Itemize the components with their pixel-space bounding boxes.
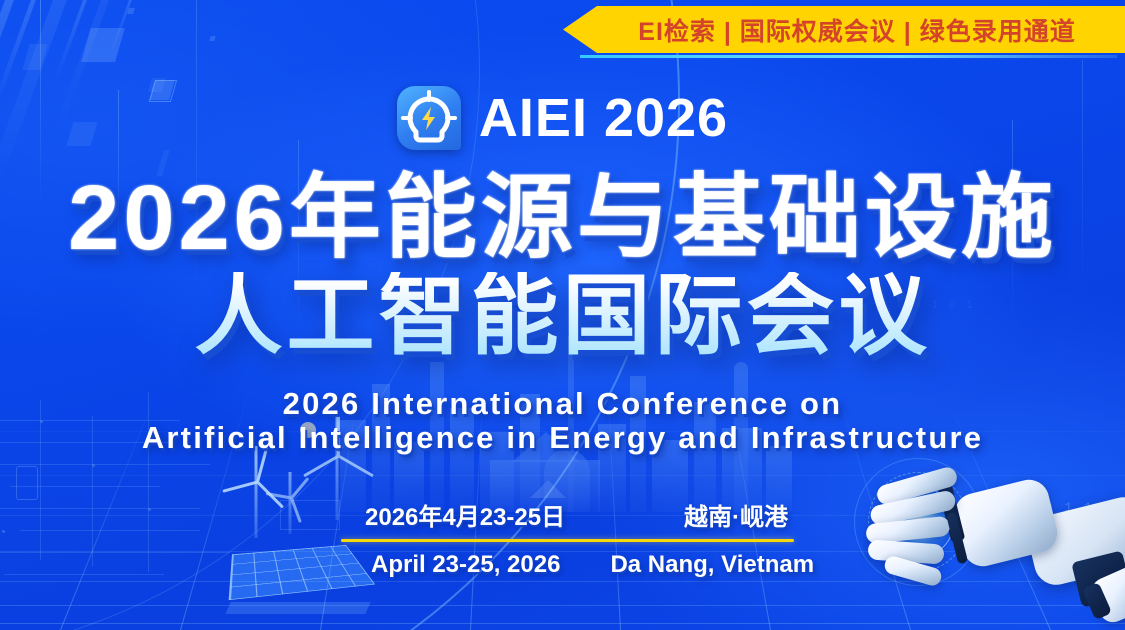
date-en: April 23-25, 2026 (341, 551, 580, 579)
energy-bolt-logo-icon (397, 86, 461, 150)
binary-code-decor: 0 1 0 0 1 1 0 1 (962, 545, 1109, 560)
conference-banner: 0 1 0 0 1 1 0 1 0 1 1 0 0 1 0 0 1 1 0 1 … (0, 0, 1125, 630)
brand-block: AIEI 2026 (0, 86, 1125, 150)
ribbon-underline-decor (580, 55, 1117, 58)
robot-hand-illustration (880, 458, 1125, 630)
square-fleck-decor (127, 8, 135, 14)
date-venue-row-cn: 2026年4月23-25日 越南·岘港 (341, 497, 794, 532)
title-cn-line2: 人工智能国际会议 (0, 272, 1125, 360)
binary-code-decor: 0 1 1 0 (1040, 568, 1109, 583)
wind-turbine-icon (268, 472, 312, 534)
hud-ring-glow-icon (848, 452, 988, 592)
binary-code-decor: 1 0 1 1 0 (1002, 522, 1090, 537)
date-cn: 2026年4月23-25日 (341, 497, 571, 532)
square-fleck-decor (209, 36, 215, 41)
title-en-line2: Artificial Intelligence in Energy and In… (0, 420, 1125, 456)
binary-code-decor: 0 1 0 0 1 1 0 (986, 500, 1113, 515)
square-fleck-decor (22, 44, 47, 70)
brand-acronym-year: AIEI 2026 (479, 91, 728, 145)
wind-turbine-icon (228, 446, 284, 538)
solar-panel-base-decor (225, 602, 370, 614)
title-en-line1: 2026 International Conference on (0, 386, 1125, 422)
date-venue-block: 2026年4月23-25日 越南·岘港 April 23-25, 2026 Da… (341, 497, 794, 579)
date-venue-row-en: April 23-25, 2026 Da Nang, Vietnam (341, 551, 794, 579)
venue-en: Da Nang, Vietnam (580, 551, 834, 579)
square-fleck-decor (81, 28, 125, 62)
title-cn-line1: 2026年能源与基础设施 (0, 172, 1125, 264)
ribbon-text: EI检索 | 国际权威会议 | 绿色录用通道 (612, 12, 1075, 48)
venue-cn: 越南·岘港 (660, 497, 794, 532)
highlight-ribbon: EI检索 | 国际权威会议 | 绿色录用通道 (563, 6, 1125, 53)
info-divider (341, 539, 794, 542)
